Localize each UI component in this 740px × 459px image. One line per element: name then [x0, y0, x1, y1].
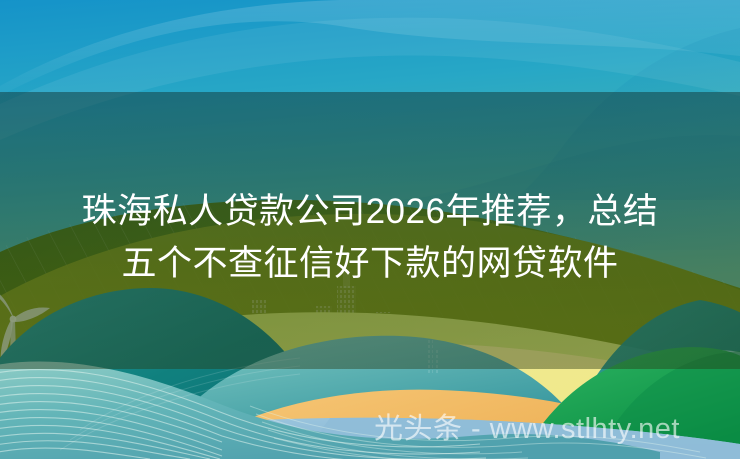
headline-line-1: 珠海私人贷款公司2026年推荐，总结	[82, 192, 659, 231]
cover-image-canvas: 珠海私人贷款公司2026年推荐，总结五个不查征信好下款的网贷软件 光头条 - w…	[0, 0, 740, 459]
headline-line-2: 五个不查征信好下款的网贷软件	[121, 244, 618, 283]
watermark: 光头条 - www.stlhty.net	[374, 413, 734, 445]
page-title: 珠海私人贷款公司2026年推荐，总结五个不查征信好下款的网贷软件	[0, 186, 740, 290]
